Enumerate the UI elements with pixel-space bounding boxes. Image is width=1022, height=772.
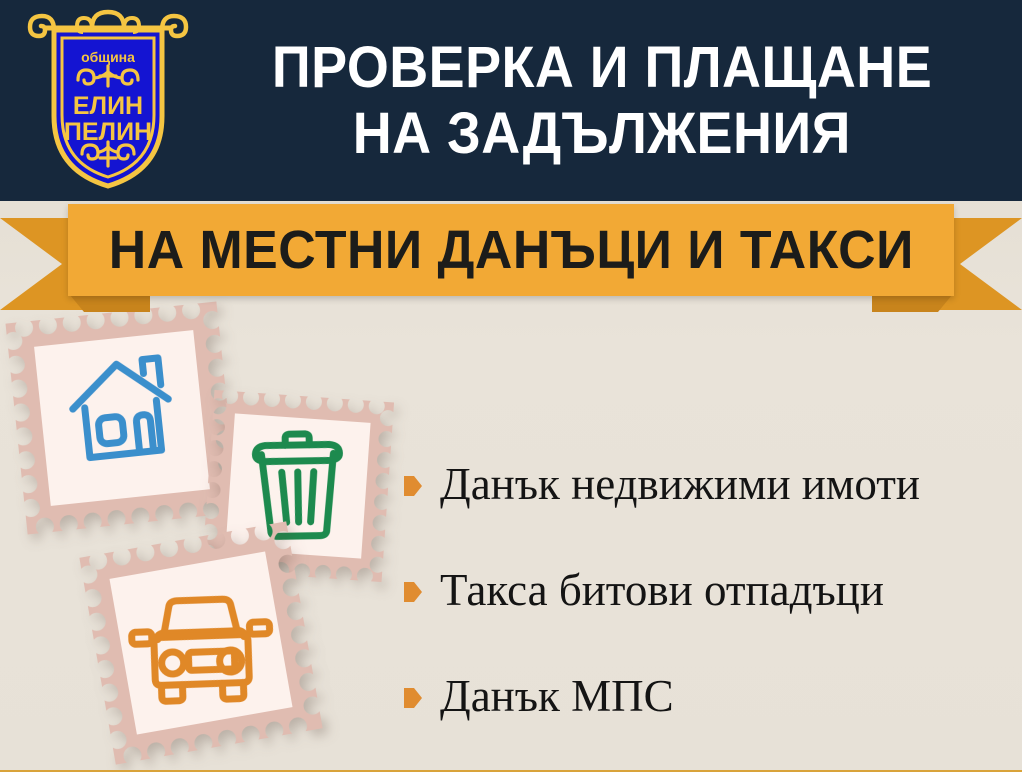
stamp-vehicle <box>79 521 322 764</box>
list-item[interactable]: Такса битови отпадъци <box>404 538 1018 644</box>
coat-of-arms-graphic: община ЕЛИН ПЕЛИН <box>22 8 194 194</box>
property-stamp-graphic <box>6 302 239 535</box>
ribbon-fold-right <box>872 295 952 312</box>
arrow-bullet-icon <box>404 687 422 709</box>
list-item-label: Такса битови отпадъци <box>440 567 884 614</box>
tax-type-list: Данък недвижими имоти Такса битови отпад… <box>404 432 1018 750</box>
vehicle-stamp-graphic <box>79 521 322 764</box>
page-title: ПРОВЕРКА И ПЛАЩАНЕ НА ЗАДЪЛЖЕНИЯ <box>196 18 1008 184</box>
list-item-label: Данък МПС <box>440 673 674 720</box>
ribbon-label: НА МЕСТНИ ДАНЪЦИ И ТАКСИ <box>108 219 913 281</box>
ribbon-fold-left <box>70 295 150 312</box>
subtitle-ribbon: НА МЕСТНИ ДАНЪЦИ И ТАКСИ <box>0 200 1022 310</box>
list-item-label: Данък недвижими имоти <box>440 461 920 508</box>
list-item[interactable]: Данък недвижими имоти <box>404 432 1018 538</box>
list-item[interactable]: Данък МПС <box>404 644 1018 750</box>
arrow-bullet-icon <box>404 475 422 497</box>
stamp-property <box>6 302 239 535</box>
poster-canvas: община ЕЛИН ПЕЛИН ПРОВЕРКА И П <box>0 0 1022 772</box>
coat-of-arms: община ЕЛИН ПЕЛИН <box>22 8 194 194</box>
ribbon-face: НА МЕСТНИ ДАНЪЦИ И ТАКСИ <box>68 204 954 296</box>
crest-word-main-1: ЕЛИН <box>73 92 143 120</box>
page-title-line-1: ПРОВЕРКА И ПЛАЩАНЕ <box>272 35 932 101</box>
crest-word-top: община <box>81 49 135 65</box>
arrow-bullet-icon <box>404 581 422 603</box>
page-title-line-2: НА ЗАДЪЛЖЕНИЯ <box>353 101 851 167</box>
